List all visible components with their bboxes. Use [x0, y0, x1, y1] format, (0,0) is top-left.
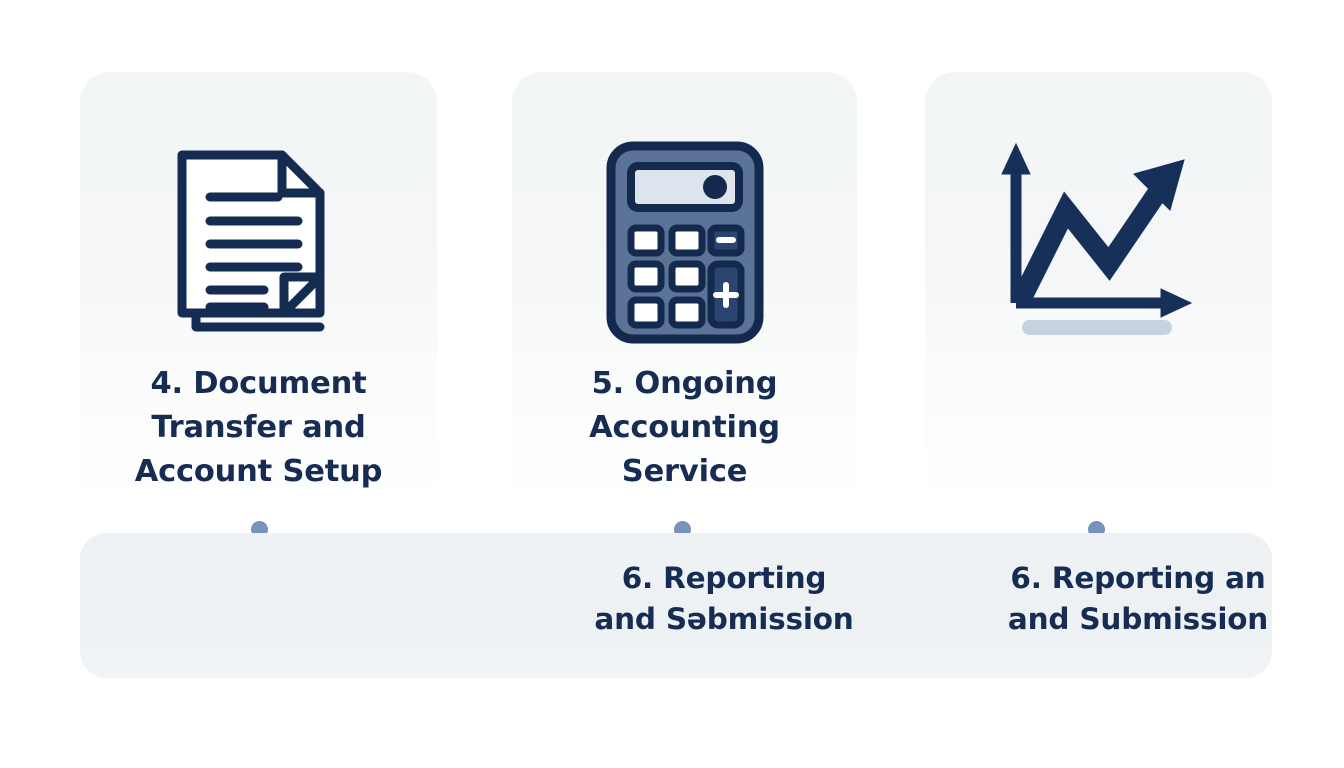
- bottom-panel[interactable]: 6. Reporting and Sǝbmission 6. Reporting…: [80, 533, 1272, 678]
- card-title-document-transfer: 4. Document Transfer and Account Setup: [80, 362, 437, 494]
- step-card-ongoing-accounting[interactable]: 5. Ongoing Accounting Service: [512, 72, 857, 502]
- document-icon-wrapper: [80, 130, 437, 355]
- step-card-reporting-growth[interactable]: [925, 72, 1272, 502]
- growth-chart-icon-wrapper: [925, 130, 1272, 355]
- calculator-icon: [605, 140, 765, 345]
- growth-chart-icon: [994, 138, 1204, 348]
- document-icon: [174, 145, 344, 340]
- step-card-document-transfer[interactable]: 4. Document Transfer and Account Setup: [80, 72, 437, 502]
- card-title-ongoing-accounting: 5. Ongoing Accounting Service: [512, 362, 857, 494]
- bottom-item-reporting-submission-right: 6. Reporting an and Submission: [928, 558, 1344, 640]
- calculator-icon-wrapper: [512, 130, 857, 355]
- infographic-canvas: 4. Document Transfer and Account Setup: [0, 0, 1344, 768]
- bottom-item-reporting-submission-middle: 6. Reporting and Sǝbmission: [514, 558, 934, 640]
